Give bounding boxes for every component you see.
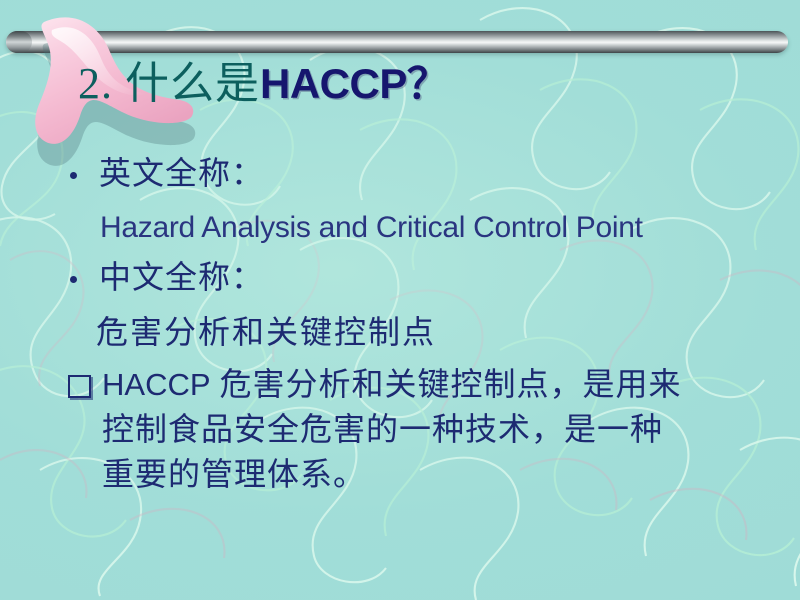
bullet-label-chinese-name: 中文全称：	[99, 254, 264, 300]
chinese-full-name: 危害分析和关键控制点	[96, 308, 766, 356]
bullet-item-chinese-name: 中文全称：	[66, 254, 766, 306]
presentation-slide: .sq { fill:none; stroke:#e3fbf0; stroke-…	[0, 0, 800, 600]
definition-text: HACCP 危害分析和关键控制点，是用来 控制食品安全危害的一种技术，是一种 重…	[102, 362, 766, 497]
page-title: 2. 什么是HACCP？	[78, 62, 448, 106]
title-number-and-chinese: 2. 什么是	[78, 59, 260, 108]
bullet-label-english-name: 英文全称：	[99, 150, 264, 196]
definition-line-1: 危害分析和关键控制点，是用来	[211, 366, 682, 402]
hollow-square-bullet-icon	[68, 375, 91, 398]
dot-bullet-icon	[70, 172, 77, 179]
title-acronym: HACCP？	[260, 60, 448, 107]
definition-line-2: 控制食品安全危害的一种技术，是一种	[102, 411, 663, 447]
definition-paragraph: HACCP 危害分析和关键控制点，是用来 控制食品安全危害的一种技术，是一种 重…	[66, 362, 766, 497]
bullet-item-english-name: 英文全称：	[66, 150, 766, 202]
english-full-name: Hazard Analysis and Critical Control Poi…	[100, 206, 766, 250]
dot-bullet-icon	[70, 276, 77, 283]
slide-body: 英文全称： Hazard Analysis and Critical Contr…	[66, 150, 766, 497]
definition-line-3: 重要的管理体系。	[102, 456, 366, 492]
definition-acronym: HACCP	[102, 367, 211, 402]
